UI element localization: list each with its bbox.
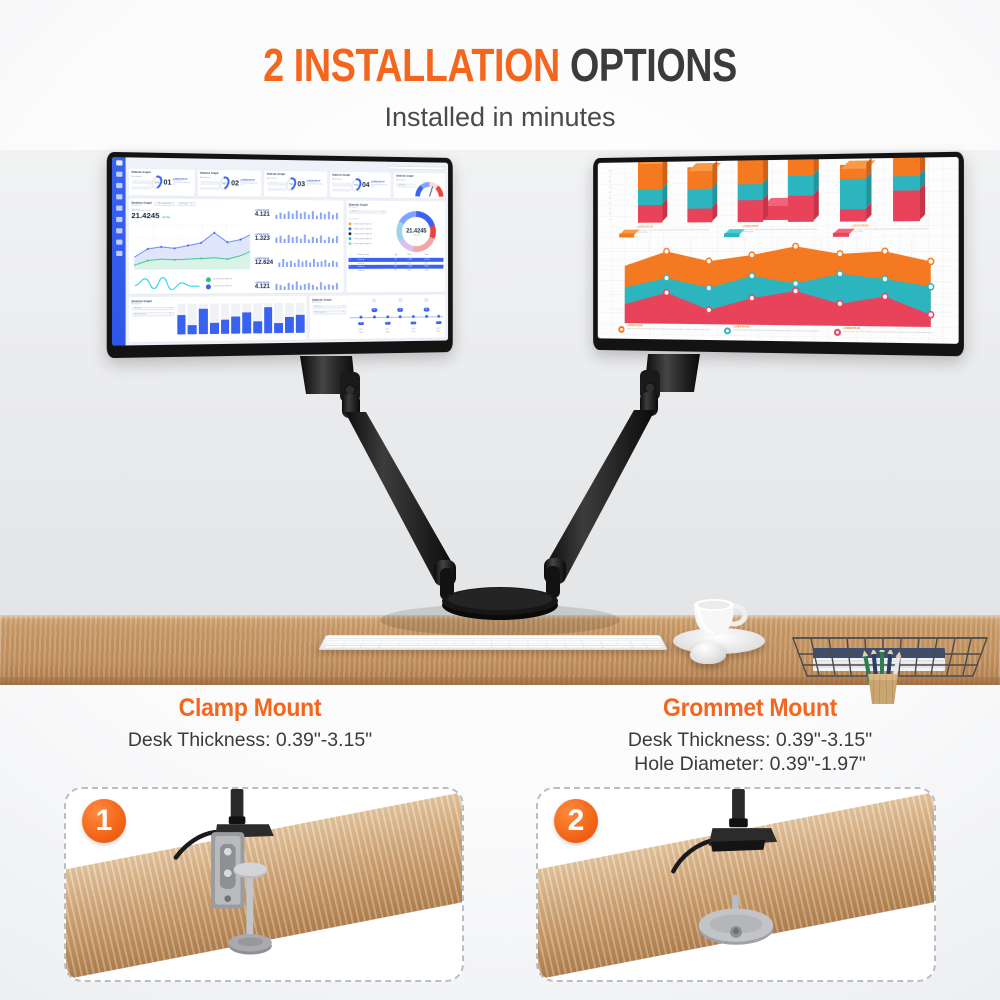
right-monitor-bezel: 100908070605040302010 — [593, 152, 964, 357]
chevron-down-icon: ▾ — [383, 211, 384, 213]
kpi-card-title: Statistic Graph — [332, 174, 351, 177]
kpi-list-value: 12.624 — [255, 260, 273, 266]
donut-center-delta: +15.4% — [413, 235, 419, 237]
cube-icon-teal — [724, 229, 740, 236]
wave-chart — [131, 275, 202, 292]
donut-panel-select[interactable]: All stats▾ — [349, 210, 387, 214]
kpi-card-bar — [267, 182, 286, 186]
kpi-card-bar — [131, 180, 151, 184]
kpi-card[interactable]: Statistic Graph All statistics 30% — [129, 169, 195, 196]
timeline-chip: 03 — [384, 321, 390, 324]
timeline-chip: 04 — [398, 308, 404, 311]
kpi-desc: dolor sit amet consectetur adipiscing el… — [371, 184, 389, 190]
page-title-rest: OPTIONS — [570, 39, 737, 91]
keyboard[interactable] — [318, 635, 668, 650]
kpi-card-bar — [332, 183, 351, 187]
kpi-progress-ring: 50% — [217, 175, 232, 192]
bar-chart-panel: Statistic Graph All statistics All stats… — [129, 296, 307, 342]
legend-label: Lorem ipsum dolor sit — [213, 285, 232, 287]
search-icon[interactable] — [116, 217, 122, 222]
bar-3d-4 — [788, 157, 814, 222]
report-icon[interactable] — [116, 251, 122, 256]
chevron-down-icon: ▾ — [191, 203, 192, 205]
gauge-card-select[interactable]: All stats — [396, 184, 415, 188]
step-badge: 1 — [82, 799, 126, 843]
sparkline — [277, 257, 341, 266]
category-filter-select[interactable]: All categories▾ — [155, 202, 174, 206]
left-monitor: Statistic Graph All statistics 30% — [107, 152, 453, 358]
sparkline — [274, 233, 341, 242]
bar-3d-5 — [840, 164, 866, 221]
chevron-down-icon: ▾ — [170, 307, 171, 309]
kpi-progress-ring: 75% — [283, 176, 298, 193]
page-title: 2 INSTALLATION OPTIONS — [90, 38, 910, 92]
kpi-card-bar — [200, 187, 220, 191]
coffee-cup — [688, 593, 748, 641]
legend-label: Lorem ipsum dolor sit — [353, 238, 371, 240]
bar-3d-2 — [687, 167, 712, 223]
infographic-dashboard: 100908070605040302010 — [598, 157, 959, 344]
right-monitor-screen: 100908070605040302010 — [598, 157, 959, 344]
inbox-icon[interactable] — [116, 194, 122, 199]
cube-icon-red — [833, 228, 849, 235]
dashboard-body: Statistic Graph All statistics 30% — [126, 157, 449, 345]
kpi-number: 04 — [362, 182, 369, 189]
kpi-card-title: Statistic Graph — [131, 171, 151, 174]
caption-grommet: Grommet Mount Desk Thickness: 0.39"-3.15… — [500, 694, 1000, 777]
kpi-list-value: 1.323 — [255, 236, 270, 242]
caption-title: Grommet Mount — [520, 694, 980, 723]
main-panel-subtitle: All statistics — [131, 204, 152, 206]
kpi-percent: 54% — [353, 183, 358, 186]
kpi-list-item: LOREM IPSUM 4.121 — [255, 209, 341, 219]
analytics-dashboard: Statistic Graph All statistics 30% — [112, 157, 448, 346]
right-monitor: 100908070605040302010 — [593, 152, 964, 357]
kpi-card-bar — [200, 181, 220, 185]
total-stats-delta: +15.4% — [162, 216, 170, 219]
chevron-down-icon: ▾ — [170, 313, 171, 315]
legend-dot-blue — [206, 284, 211, 289]
timeline-chip: 06 — [424, 308, 430, 311]
flag-icon[interactable] — [116, 160, 122, 165]
kpi-list: LOREM IPSUM 4.121 — [255, 209, 341, 290]
link-icon[interactable] — [116, 206, 122, 211]
bar-panel-select-b[interactable]: All categories▾ — [131, 312, 173, 316]
total-stats-value: 21.4245+15.4% — [131, 211, 252, 219]
kpi-list-item: LOREM IPSUM 1.323 — [255, 233, 341, 242]
kpi-card-subtitle: All statistics — [131, 176, 151, 178]
stacked-area-chart — [605, 238, 950, 327]
grommet-mount-panel: 2 — [536, 787, 936, 982]
legend-dot-blue — [349, 227, 352, 230]
caption-line: Hole Diameter: 0.39"-1.97" — [500, 753, 1000, 777]
legend-label: Lorem ipsum dolor sit — [353, 228, 371, 230]
timeline-select-a[interactable]: All stats▾ — [312, 305, 347, 309]
kpi-card-row: Statistic Graph All statistics 30% — [129, 169, 446, 199]
gauge-card-title: Statistic Graph — [396, 175, 415, 178]
timeline-chip: 01 — [358, 322, 364, 325]
kpi-desc: dolor sit amet consectetur adipiscing el… — [241, 182, 259, 188]
kpi-list-value: 4.121 — [255, 212, 270, 218]
legend-dot-green — [206, 277, 211, 282]
caption-title: Clamp Mount — [20, 694, 480, 723]
legend-dot-teal — [349, 237, 352, 240]
area-chart — [131, 220, 252, 275]
timeline-panel-subtitle: All statistics — [312, 301, 347, 303]
kpi-percent: 30% — [154, 181, 159, 184]
kpi-card-subtitle: All statistics — [200, 177, 220, 179]
kpi-number: 03 — [297, 181, 305, 188]
user-icon[interactable] — [116, 172, 122, 177]
header: 2 INSTALLATION OPTIONS Installed in minu… — [0, 38, 1000, 133]
kpi-progress-ring: 54% — [348, 176, 363, 193]
dashboard-mid-row: Statistic Graph All statistics All categ… — [129, 198, 446, 294]
chevron-down-icon: ▾ — [343, 306, 344, 308]
calendar-icon[interactable] — [116, 228, 122, 233]
clamp-mount-panel: 1 — [64, 787, 464, 982]
left-monitor-bezel: Statistic Graph All statistics 30% — [107, 152, 453, 358]
chevron-down-icon: ▾ — [170, 203, 171, 205]
left-monitor-screen: Statistic Graph All statistics 30% — [112, 157, 448, 346]
legend-dot-mint — [349, 242, 352, 245]
timeline-select-b[interactable]: All categories▾ — [312, 311, 347, 315]
kpi-desc: dolor sit amet consectetur adipiscing el… — [173, 181, 192, 187]
bar-panel-subtitle: All statistics — [131, 302, 173, 304]
timeline-panel: Statistic Graph All statistics All stats… — [310, 295, 446, 340]
legend-dot-dark — [349, 232, 352, 235]
dashboard-sidebar[interactable] — [112, 157, 126, 346]
products-table: # Product name Qty Price Total 1 Lorem i… — [349, 254, 443, 273]
product-scene: Statistic Graph All statistics 30% — [0, 150, 1000, 685]
timeline-chip: 07 — [436, 321, 442, 324]
keyboard-body[interactable] — [318, 635, 668, 650]
kpi-card-subtitle: All statistics — [332, 179, 351, 181]
donut-legend: Lorem ipsum dolor sit Lorem ipsum dolor … — [349, 223, 387, 246]
main-stats-panel: Statistic Graph All statistics All categ… — [129, 198, 344, 294]
kpi-card-bar — [131, 186, 151, 190]
sparkline — [274, 209, 341, 218]
kpi-desc: dolor sit amet consectetur adipiscing el… — [307, 183, 325, 189]
kpi-progress-ring: 30% — [149, 174, 165, 191]
timeline-chip: 05 — [411, 321, 417, 324]
bar-3d-3 — [737, 157, 762, 222]
search-input[interactable] — [387, 165, 445, 170]
chevron-down-icon: ▾ — [343, 311, 344, 313]
kpi-card-bar — [267, 187, 286, 191]
kpi-number: 02 — [231, 180, 239, 187]
page-title-highlight: 2 INSTALLATION — [263, 39, 560, 91]
settings-icon[interactable] — [116, 240, 122, 245]
kpi-card[interactable]: Statistic Graph All statistics 75% — [264, 171, 327, 198]
kpi-card-title: Statistic Graph — [267, 173, 286, 176]
sparkline — [274, 281, 341, 290]
bar-chart — [177, 303, 304, 335]
table-row[interactable]: 4 Lorem ip 31 532 1.452 — [349, 269, 443, 273]
legend-label: Lorem ipsum dolor sit — [353, 223, 371, 225]
kpi-card-title: Statistic Graph — [200, 172, 220, 175]
page-subtitle: Installed in minutes — [0, 102, 1000, 133]
legend-label: Lorem ipsum dolor sit — [213, 278, 232, 280]
chart-icon[interactable] — [116, 183, 122, 188]
kpi-card-bar — [332, 188, 351, 192]
cube-icon-orange — [620, 229, 635, 236]
gauge-card[interactable]: Statistic Graph All statistics All stats — [394, 173, 446, 199]
legend-label: Lorem ipsum dolor sit — [353, 233, 371, 235]
donut-chart: 21.4245 +15.4% — [397, 210, 437, 251]
timeline-chart: 02 04 06 01 03 05 07 02/122024 04/122024 — [350, 297, 443, 336]
kpi-list-item: LOREM IPSUM 12.624 — [255, 257, 341, 266]
kpi-percent: 50% — [222, 182, 227, 185]
bar-3d-1 — [638, 159, 663, 222]
bar-panel-select-a[interactable]: All stats▾ — [131, 307, 173, 311]
donut-center-value: 21.4245 — [406, 228, 426, 234]
status-filter-select[interactable]: All status▾ — [177, 202, 195, 206]
gauge-chart — [415, 181, 443, 196]
dashboard-bottom-row: Statistic Graph All statistics All stats… — [129, 295, 446, 342]
keyboard-main-keys[interactable] — [324, 637, 602, 648]
kpi-number: 01 — [163, 179, 171, 186]
area-chart-legend: Lorem ipsum dolor sit Lorem ipsum dolor … — [206, 277, 232, 289]
kpi-card[interactable]: Statistic Graph All statistics 54% — [330, 172, 391, 198]
installation-panels: 1 2 — [0, 787, 1000, 987]
caption-clamp: Clamp Mount Desk Thickness: 0.39"-3.15" — [0, 694, 500, 777]
legend-dot-orange — [349, 223, 352, 226]
caption-line: Desk Thickness: 0.39"-3.15" — [0, 729, 500, 753]
kpi-percent: 75% — [289, 183, 294, 186]
donut-panel: Statistic Graph All statistics All stats… — [346, 201, 445, 293]
gauge-card-subtitle: All statistics — [396, 180, 415, 182]
donut-panel-subtitle: All statistics — [349, 206, 368, 208]
timeline-chip: 02 — [371, 309, 377, 312]
bar-3d-6 — [893, 157, 920, 221]
computer-mouse[interactable] — [690, 642, 726, 664]
step-badge: 2 — [554, 799, 598, 843]
kpi-card[interactable]: Statistic Graph All statistics 50% — [197, 170, 261, 197]
donut-legend-title: Lorem ipsum — [349, 219, 387, 221]
caption-line: Desk Thickness: 0.39"-3.15" — [500, 729, 1000, 753]
keyboard-numpad[interactable] — [601, 637, 662, 648]
kpi-card-subtitle: All statistics — [267, 178, 286, 180]
legend-label: Lorem ipsum dolor sit — [353, 243, 371, 245]
caption-row: Clamp Mount Desk Thickness: 0.39"-3.15" … — [0, 694, 1000, 777]
kpi-list-item: LOREM IPSUM 4.121 — [255, 281, 341, 290]
kpi-list-value: 4.121 — [255, 284, 270, 290]
